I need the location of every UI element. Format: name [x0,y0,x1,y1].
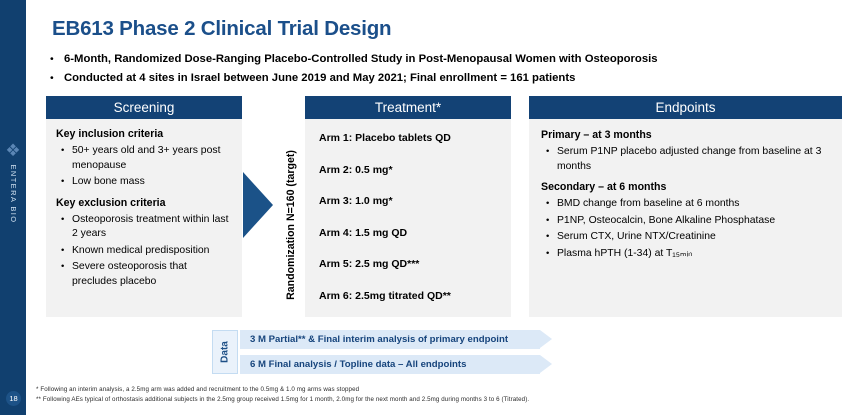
bullet-dot-icon: • [56,213,72,228]
slide-canvas: ❖ ENTERA BIO 18 EB613 Phase 2 Clinical T… [0,0,857,415]
bullet-dot-icon: • [46,52,64,66]
list-item: • P1NP, Osteocalcin, Bone Alkaline Phosp… [541,214,832,229]
arrow-tip-icon [540,355,552,373]
list-item-text: Osteoporosis treatment within last 2 yea… [72,213,232,242]
panel-treatment: Treatment* Arm 1: Placebo tablets QD Arm… [305,96,511,317]
list-item: • Low bone mass [56,175,232,190]
data-flow-arrow-text: 3 M Partial** & Final interim analysis o… [250,330,508,349]
list-item-text: 50+ years old and 3+ years post menopaus… [72,144,232,173]
panel-screening: Screening Key inclusion criteria • 50+ y… [46,96,242,317]
panel-endpoints-body: Primary – at 3 months • Serum P1NP place… [529,119,842,317]
header-bullet-text: Conducted at 4 sites in Israel between J… [64,71,575,85]
endpoints-section-heading: Secondary – at 6 months [541,181,832,193]
arrow-tip-icon [540,330,552,348]
panel-endpoints: Endpoints Primary – at 3 months • Serum … [529,96,842,317]
bullet-dot-icon: • [46,71,64,85]
list-item: • Serum P1NP placebo adjusted change fro… [541,145,832,174]
bullet-dot-icon: • [56,175,72,190]
header-bullet-list: • 6-Month, Randomized Dose-Ranging Place… [46,52,846,89]
header-bullet-text: 6-Month, Randomized Dose-Ranging Placebo… [64,52,658,66]
data-flow-arrow: 3 M Partial** & Final interim analysis o… [240,330,540,349]
list-item: • BMD change from baseline at 6 months [541,197,832,212]
list-item: • Osteoporosis treatment within last 2 y… [56,213,232,242]
randomization-label-wrap: Randomization N=160 (target) [280,130,302,320]
bullet-dot-icon: • [56,244,72,259]
randomization-label: Randomization N=160 (target) [285,150,297,300]
brand-rail: ❖ ENTERA BIO 18 [0,0,26,415]
screening-section-heading: Key exclusion criteria [56,197,232,209]
panel-treatment-body: Arm 1: Placebo tablets QD Arm 2: 0.5 mg*… [305,119,511,317]
bullet-dot-icon: • [56,260,72,275]
footnote-text: ** Following AEs typical of orthostasis … [36,395,846,405]
list-item: • Serum CTX, Urine NTX/Creatinine [541,230,832,245]
bullet-dot-icon: • [541,230,557,245]
list-item: • 50+ years old and 3+ years post menopa… [56,144,232,173]
list-item-text: Serum P1NP placebo adjusted change from … [557,145,832,174]
page-title: EB613 Phase 2 Clinical Trial Design [52,17,391,41]
data-flow-label-text: Data [220,341,231,363]
header-bullet-item: • Conducted at 4 sites in Israel between… [46,71,846,85]
list-item: • Severe osteoporosis that precludes pla… [56,260,232,289]
treatment-arm: Arm 2: 0.5 mg* [319,163,511,177]
list-item-text: BMD change from baseline at 6 months [557,197,740,212]
footnotes: * Following an interim analysis, a 2.5mg… [36,385,846,404]
brand-name: ENTERA BIO [0,158,26,230]
bullet-dot-icon: • [56,144,72,159]
panel-treatment-title: Treatment* [305,96,511,119]
endpoints-section-heading: Primary – at 3 months [541,129,832,141]
footnote-text: * Following an interim analysis, a 2.5mg… [36,385,846,395]
list-item: • Plasma hPTH (1-34) at T₁₅ₘᵢₙ [541,247,832,262]
bullet-dot-icon: • [541,247,557,262]
panel-endpoints-title: Endpoints [529,96,842,119]
panel-screening-body: Key inclusion criteria • 50+ years old a… [46,119,242,317]
data-flow-label: Data [212,330,238,374]
list-item-text: P1NP, Osteocalcin, Bone Alkaline Phospha… [557,214,775,229]
treatment-arm: Arm 4: 1.5 mg QD [319,226,511,240]
data-flow-arrow: 6 M Final analysis / Topline data – All … [240,355,540,374]
bullet-dot-icon: • [541,145,557,160]
bullet-dot-icon: • [541,214,557,229]
treatment-arm: Arm 5: 2.5 mg QD*** [319,257,511,271]
panel-screening-title: Screening [46,96,242,119]
bullet-dot-icon: • [541,197,557,212]
list-item-text: Severe osteoporosis that precludes place… [72,260,232,289]
treatment-arm: Arm 1: Placebo tablets QD [319,131,511,145]
treatment-arm: Arm 6: 2.5mg titrated QD** [319,289,511,303]
list-item: • Known medical predisposition [56,244,232,259]
data-flow-arrow-text: 6 M Final analysis / Topline data – All … [250,355,466,374]
list-item-text: Plasma hPTH (1-34) at T₁₅ₘᵢₙ [557,247,692,262]
treatment-arm: Arm 3: 1.0 mg* [319,194,511,208]
list-item-text: Low bone mass [72,175,145,190]
flow-arrow-icon [243,172,273,238]
screening-section-heading: Key inclusion criteria [56,128,232,140]
page-number: 18 [6,391,21,406]
header-bullet-item: • 6-Month, Randomized Dose-Ranging Place… [46,52,846,66]
list-item-text: Known medical predisposition [72,244,209,259]
list-item-text: Serum CTX, Urine NTX/Creatinine [557,230,716,245]
